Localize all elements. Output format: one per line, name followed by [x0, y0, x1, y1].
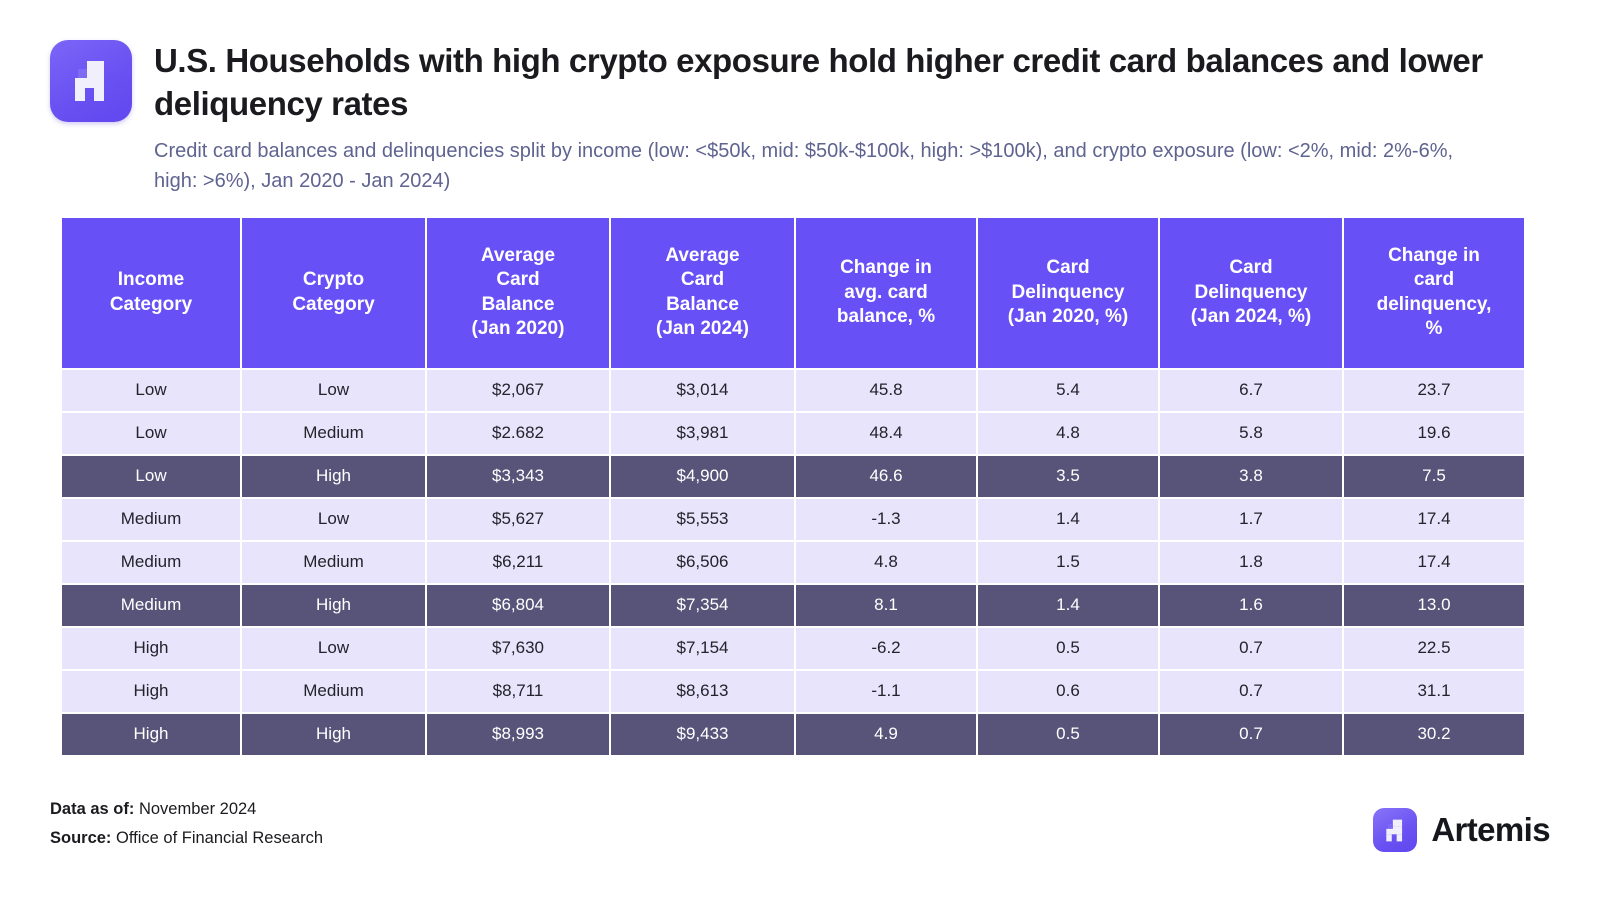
table-cell: High — [242, 585, 425, 626]
table-cell: $6,506 — [611, 542, 794, 583]
column-header-avg-card-balance-2020: Average Card Balance (Jan 2020) — [427, 218, 609, 368]
header-line: Card — [496, 269, 539, 290]
header-line: Balance — [482, 294, 555, 315]
header-line: Crypto — [303, 269, 364, 290]
table-cell: 1.5 — [978, 542, 1158, 583]
table-row: HighMedium$8,711$8,613-1.10.60.731.1 — [62, 671, 1524, 712]
table-cell: 17.4 — [1344, 499, 1524, 540]
header-line: Balance — [666, 294, 739, 315]
header-line: Card — [1229, 257, 1272, 278]
table-cell: 17.4 — [1344, 542, 1524, 583]
header-line: Income — [118, 269, 185, 290]
table-cell: 0.5 — [978, 628, 1158, 669]
header-line: Average — [481, 245, 555, 266]
table-cell: $7,630 — [427, 628, 609, 669]
table-cell: Low — [62, 370, 240, 411]
table-cell: $2.682 — [427, 413, 609, 454]
header-line: (Jan 2024) — [656, 318, 749, 339]
column-header-crypto-category: Crypto Category — [242, 218, 425, 368]
table-cell: 4.8 — [978, 413, 1158, 454]
table-cell: 1.6 — [1160, 585, 1342, 626]
table-cell: 23.7 — [1344, 370, 1524, 411]
table-cell: $7,154 — [611, 628, 794, 669]
header-line: Change in — [840, 257, 932, 278]
table-cell: Medium — [62, 542, 240, 583]
header-line: delinquency, — [1377, 294, 1492, 315]
table-cell: 0.7 — [1160, 714, 1342, 755]
header-line: Category — [292, 294, 374, 315]
column-header-avg-card-balance-2024: Average Card Balance (Jan 2024) — [611, 218, 794, 368]
artemis-lockup: Artemis — [1373, 808, 1550, 852]
header-line: card — [1414, 269, 1454, 290]
table-header: Income Category Crypto Category Average … — [62, 218, 1524, 368]
table-cell: 48.4 — [796, 413, 976, 454]
table-cell: 0.7 — [1160, 671, 1342, 712]
table-cell: -1.1 — [796, 671, 976, 712]
header-line: (Jan 2020) — [472, 318, 565, 339]
table-cell: Low — [242, 499, 425, 540]
table-cell: 31.1 — [1344, 671, 1524, 712]
table-row: MediumMedium$6,211$6,5064.81.51.817.4 — [62, 542, 1524, 583]
table-cell: $3,014 — [611, 370, 794, 411]
table-cell: $9,433 — [611, 714, 794, 755]
table-cell: -1.3 — [796, 499, 976, 540]
table-cell: Low — [242, 370, 425, 411]
column-header-card-delinquency-2020: Card Delinquency (Jan 2020, %) — [978, 218, 1158, 368]
table-cell: 8.1 — [796, 585, 976, 626]
table-cell: 4.9 — [796, 714, 976, 755]
header-line: Card — [1046, 257, 1089, 278]
table-cell: High — [62, 628, 240, 669]
header-text: U.S. Households with high crypto exposur… — [154, 38, 1544, 196]
data-as-of-value: November 2024 — [139, 800, 256, 818]
table-cell: 45.8 — [796, 370, 976, 411]
table-cell: Medium — [242, 542, 425, 583]
footnotes: Data as of: November 2024 Source: Office… — [50, 795, 323, 854]
artemis-logo-icon — [1373, 808, 1417, 852]
header-line: Change in — [1388, 245, 1480, 266]
table-cell: 4.8 — [796, 542, 976, 583]
table-cell: 1.7 — [1160, 499, 1342, 540]
header-line: balance, % — [837, 306, 935, 327]
table-cell: $5,553 — [611, 499, 794, 540]
column-header-income-category: Income Category — [62, 218, 240, 368]
column-header-card-delinquency-2024: Card Delinquency (Jan 2024, %) — [1160, 218, 1342, 368]
data-as-of-line: Data as of: November 2024 — [50, 795, 323, 825]
table-row: HighLow$7,630$7,154-6.20.50.722.5 — [62, 628, 1524, 669]
header-line: Delinquency — [1012, 282, 1125, 303]
header-line: Category — [110, 294, 192, 315]
table-cell: $3,343 — [427, 456, 609, 497]
table-cell: High — [62, 671, 240, 712]
data-as-of-label: Data as of: — [50, 800, 134, 818]
source-line: Source: Office of Financial Research — [50, 824, 323, 854]
infographic-page: U.S. Households with high crypto exposur… — [0, 0, 1600, 900]
column-header-change-avg-card-balance: Change in avg. card balance, % — [796, 218, 976, 368]
table-cell: $6,804 — [427, 585, 609, 626]
table-cell: High — [242, 456, 425, 497]
data-table-container: Income Category Crypto Category Average … — [60, 216, 1508, 757]
table-cell: 30.2 — [1344, 714, 1524, 755]
table-cell: Medium — [242, 671, 425, 712]
table-cell: 3.8 — [1160, 456, 1342, 497]
table-cell: $8,711 — [427, 671, 609, 712]
artemis-wordmark: Artemis — [1431, 811, 1550, 849]
table-cell: $5,627 — [427, 499, 609, 540]
table-cell: 0.5 — [978, 714, 1158, 755]
table-cell: $3,981 — [611, 413, 794, 454]
table-cell: Medium — [242, 413, 425, 454]
table-cell: High — [242, 714, 425, 755]
table-cell: 5.8 — [1160, 413, 1342, 454]
table-row: LowHigh$3,343$4,90046.63.53.87.5 — [62, 456, 1524, 497]
table-cell: $8,993 — [427, 714, 609, 755]
header-line: % — [1426, 318, 1443, 339]
table-cell: -6.2 — [796, 628, 976, 669]
header-line: avg. card — [844, 282, 927, 303]
table-cell: 7.5 — [1344, 456, 1524, 497]
table-cell: $6,211 — [427, 542, 609, 583]
table-cell: 46.6 — [796, 456, 976, 497]
table-cell: Medium — [62, 499, 240, 540]
page-subtitle: Credit card balances and delinquencies s… — [154, 136, 1484, 196]
header: U.S. Households with high crypto exposur… — [0, 0, 1600, 196]
table-cell: 22.5 — [1344, 628, 1524, 669]
table-cell: 0.6 — [978, 671, 1158, 712]
table-cell: 5.4 — [978, 370, 1158, 411]
table-row: MediumHigh$6,804$7,3548.11.41.613.0 — [62, 585, 1524, 626]
table-header-row: Income Category Crypto Category Average … — [62, 218, 1524, 368]
table-body: LowLow$2,067$3,01445.85.46.723.7LowMediu… — [62, 370, 1524, 755]
header-line: (Jan 2024, %) — [1191, 306, 1311, 327]
source-value: Office of Financial Research — [116, 829, 323, 847]
table-cell: 13.0 — [1344, 585, 1524, 626]
table-row: LowLow$2,067$3,01445.85.46.723.7 — [62, 370, 1524, 411]
table-cell: $2,067 — [427, 370, 609, 411]
page-title: U.S. Households with high crypto exposur… — [154, 40, 1544, 126]
data-table: Income Category Crypto Category Average … — [60, 216, 1526, 757]
column-header-change-card-delinquency: Change in card delinquency, % — [1344, 218, 1524, 368]
table-cell: $8,613 — [611, 671, 794, 712]
table-cell: 19.6 — [1344, 413, 1524, 454]
table-cell: Low — [242, 628, 425, 669]
table-cell: 3.5 — [978, 456, 1158, 497]
table-cell: 1.8 — [1160, 542, 1342, 583]
table-row: LowMedium$2.682$3,98148.44.85.819.6 — [62, 413, 1524, 454]
table-cell: Medium — [62, 585, 240, 626]
table-row: HighHigh$8,993$9,4334.90.50.730.2 — [62, 714, 1524, 755]
artemis-logo-icon — [50, 40, 132, 122]
table-cell: 1.4 — [978, 499, 1158, 540]
table-cell: 1.4 — [978, 585, 1158, 626]
table-cell: $7,354 — [611, 585, 794, 626]
header-line: Card — [681, 269, 724, 290]
footer: Data as of: November 2024 Source: Office… — [50, 795, 1550, 854]
source-label: Source: — [50, 829, 111, 847]
header-line: (Jan 2020, %) — [1008, 306, 1128, 327]
table-cell: High — [62, 714, 240, 755]
header-line: Delinquency — [1195, 282, 1308, 303]
table-cell: 0.7 — [1160, 628, 1342, 669]
table-row: MediumLow$5,627$5,553-1.31.41.717.4 — [62, 499, 1524, 540]
table-cell: $4,900 — [611, 456, 794, 497]
header-line: Average — [665, 245, 739, 266]
table-cell: Low — [62, 413, 240, 454]
table-cell: 6.7 — [1160, 370, 1342, 411]
table-cell: Low — [62, 456, 240, 497]
